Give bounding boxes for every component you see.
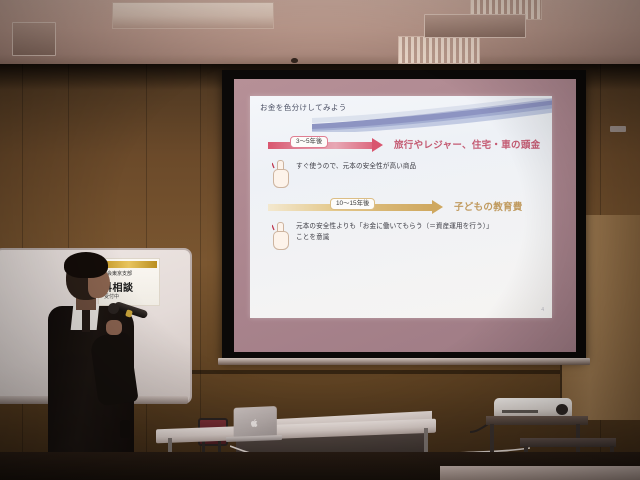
- projected-slide: お金を色分けしてみよう 3〜5年後 旅行やレジャー、住宅・車の頭金 すぐ使うので…: [250, 96, 552, 318]
- apple-logo-icon: [250, 418, 259, 428]
- slide-note-1: すぐ使うので、元本の安全性が高い商品: [296, 162, 416, 172]
- timeline-arrow-2: 10〜15年後: [268, 200, 446, 214]
- slide-note-2-line2: ことを意識: [296, 233, 329, 243]
- projection-screen-bottom-bar: [218, 358, 590, 365]
- slide-swoosh-decoration: [312, 98, 552, 132]
- projector-vent: [502, 410, 538, 413]
- arrow-head-1: [372, 138, 383, 152]
- timeline-arrow-1: 3〜5年後: [268, 138, 386, 152]
- slide-row-1: 3〜5年後 旅行やレジャー、住宅・車の頭金 すぐ使うので、元本の安全性が高い商品: [268, 138, 538, 152]
- floor-riser: [440, 466, 640, 480]
- arrow-head-2: [432, 200, 443, 214]
- ceiling-vent-right: [424, 14, 526, 38]
- pointing-hand-icon-1: [270, 158, 290, 188]
- timeline-chip-1: 3〜5年後: [290, 136, 328, 148]
- slide-page-number: 4: [541, 307, 544, 313]
- presenter-hair: [64, 252, 108, 278]
- presenter-tie: [82, 308, 90, 332]
- slide-title: お金を色分けしてみよう: [260, 102, 347, 113]
- seminar-room-photo: お金を色分けしてみよう 3〜5年後 旅行やレジャー、住宅・車の頭金 すぐ使うので…: [0, 0, 640, 480]
- pointing-hand-icon-2: [270, 220, 290, 250]
- ceiling-sensor-a: [291, 58, 298, 63]
- presenter-remote: [120, 420, 130, 438]
- hand-palm-2: [273, 231, 289, 250]
- slide-headline-2: 子どもの教育費: [454, 199, 523, 213]
- slide-note-2-line1: 元本の安全性よりも「お金に働いてもらう（＝資産運用を行う）」: [296, 222, 493, 232]
- projector-stand-shelf: [520, 438, 616, 447]
- slide-headline-1: 旅行やレジャー、住宅・車の頭金: [394, 137, 540, 151]
- whiteboard-marker-tray-clip: [610, 126, 626, 132]
- ceiling-louvre-left: [398, 36, 480, 64]
- presenter: [42, 252, 152, 480]
- ceiling: [0, 0, 640, 72]
- projector-lens: [556, 404, 568, 415]
- projector-stand-top: [486, 416, 588, 425]
- presenter-hand: [106, 320, 122, 335]
- timeline-chip-2: 10〜15年後: [330, 198, 375, 210]
- ceiling-vent: [12, 22, 56, 56]
- slide-row-2: 10〜15年後 子どもの教育費 元本の安全性よりも「お金に働いてもらう（＝資産運…: [268, 200, 548, 214]
- hand-palm-1: [273, 169, 289, 188]
- ceiling-light-fixture: [112, 2, 274, 29]
- microphone-head: [108, 303, 119, 314]
